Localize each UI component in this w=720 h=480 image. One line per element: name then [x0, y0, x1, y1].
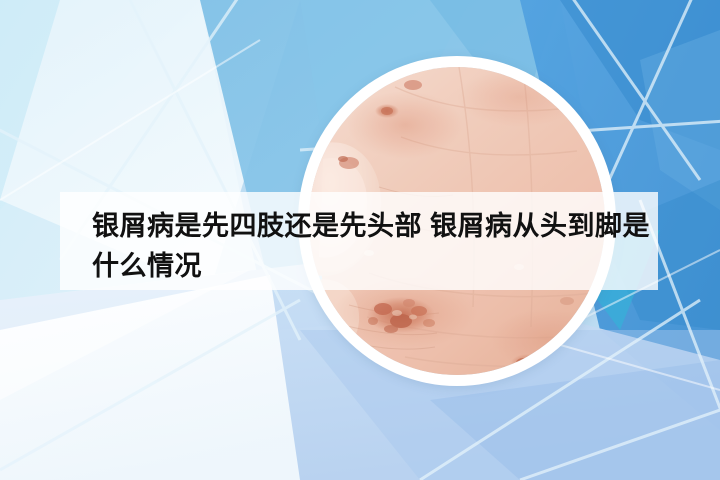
- thumbnail-card: 银屑病是先四肢还是先头部 银屑病从头到脚是什么情况: [0, 0, 720, 480]
- caption-title: 银屑病是先四肢还是先头部 银屑病从头到脚是什么情况: [92, 206, 652, 286]
